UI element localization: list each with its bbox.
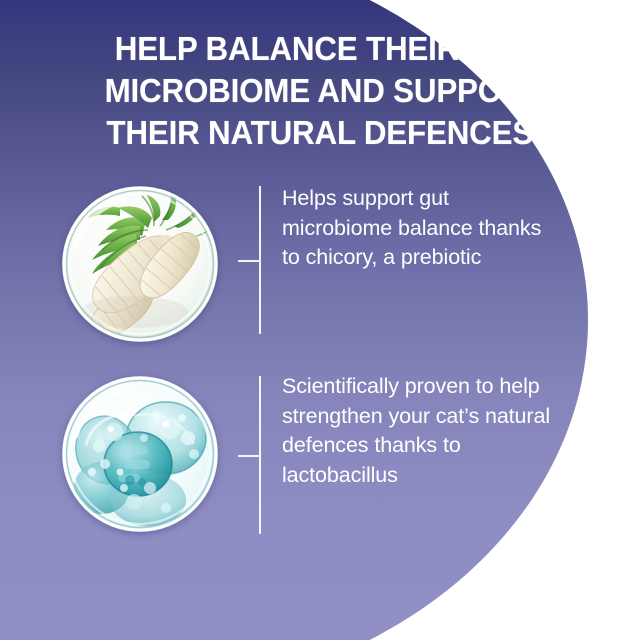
page-title: HELP BALANCE THEIR GUT MICROBIOME AND SU… <box>16 28 632 154</box>
feature-text-chicory: Helps support gut microbiome balance tha… <box>282 184 640 273</box>
promo-banner: HELP BALANCE THEIR GUT MICROBIOME AND SU… <box>0 0 640 640</box>
petri-dish-chicory-roots-image <box>62 186 218 342</box>
page-title-line-1: HELP BALANCE THEIR GUT <box>16 28 632 70</box>
petri-dish-lactobacillus-image <box>62 376 218 532</box>
divider-tick-line <box>238 455 260 457</box>
feature-divider-1 <box>242 186 268 334</box>
feature-item-lactobacillus: Scientifically proven to help strengthen… <box>0 376 640 536</box>
feature-item-chicory: Helps support gut microbiome balance tha… <box>0 186 640 346</box>
feature-text-lactobacillus: Scientifically proven to help strengthen… <box>282 372 640 490</box>
feature-image-wrap-2 <box>62 376 220 536</box>
divider-tick-line <box>238 260 260 262</box>
page-title-line-3: THEIR NATURAL DEFENCES. <box>16 112 632 154</box>
page-title-line-2: MICROBIOME AND SUPPORT <box>16 70 632 112</box>
feature-image-wrap-1 <box>62 186 220 346</box>
feature-divider-2 <box>242 376 268 534</box>
